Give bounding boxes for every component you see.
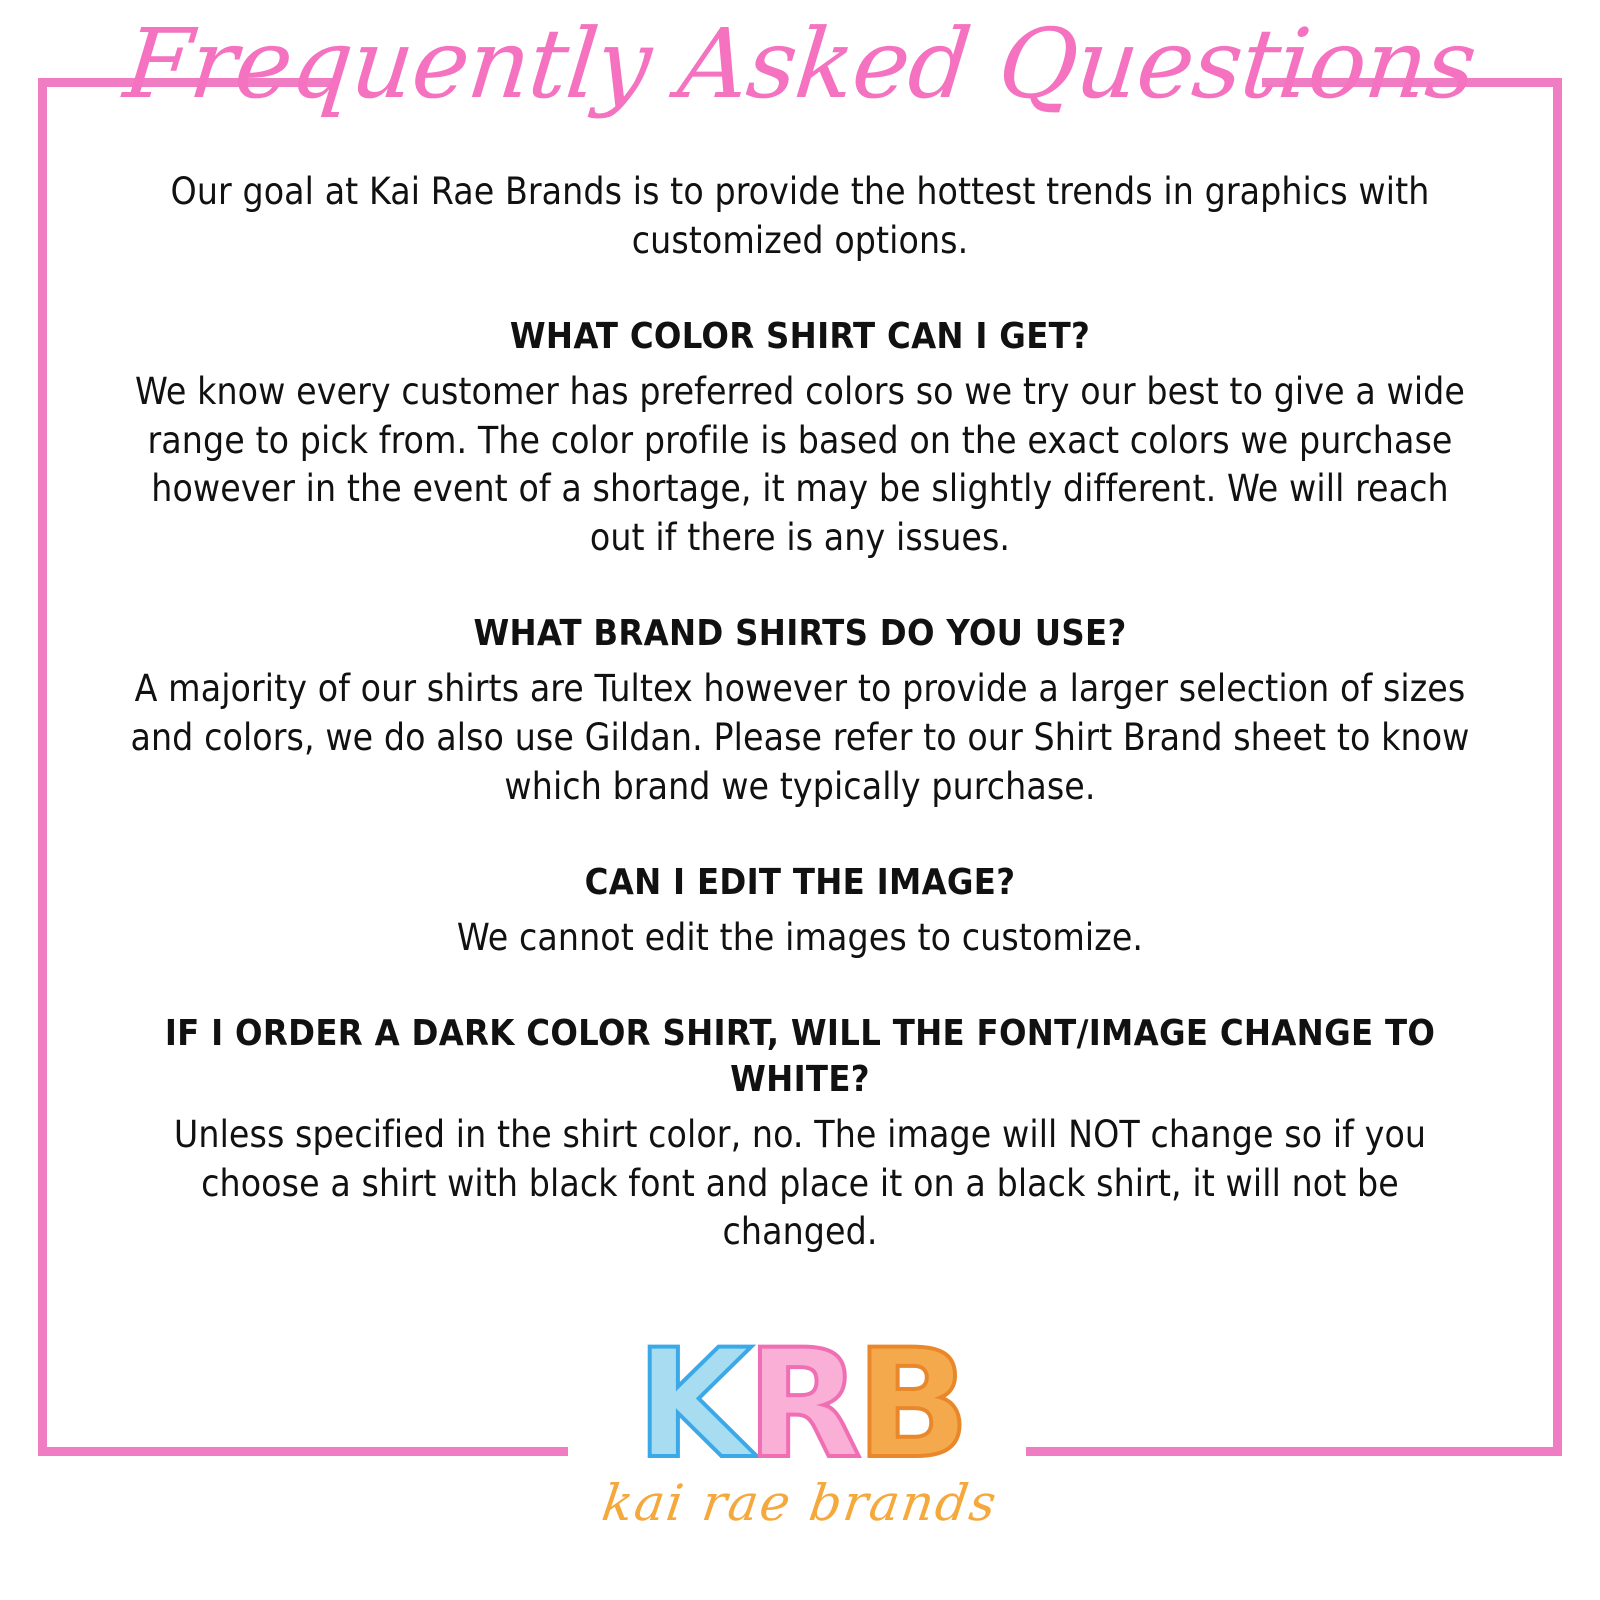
logo-letter-k: K xyxy=(636,1330,746,1480)
faq-question-1: WHAT COLOR SHIRT CAN I GET? xyxy=(130,314,1470,360)
logo-letter-r: R xyxy=(746,1330,856,1480)
frame-right-segment xyxy=(1553,78,1562,1456)
frame-left-segment xyxy=(38,78,47,1456)
logo-letter-b: B xyxy=(856,1330,964,1480)
faq-answer-2: A majority of our shirts are Tultex howe… xyxy=(130,665,1470,811)
faq-page: Frequently Asked Questions Our goal at K… xyxy=(0,0,1600,1600)
logo-lettermark: KRB xyxy=(0,1330,1600,1480)
faq-answer-4: Unless specified in the shirt color, no.… xyxy=(130,1111,1470,1257)
faq-answer-1: We know every customer has preferred col… xyxy=(130,368,1470,563)
intro-paragraph: Our goal at Kai Rae Brands is to provide… xyxy=(145,168,1455,266)
page-title: Frequently Asked Questions xyxy=(0,14,1600,115)
logo-tagline: kai rae brands xyxy=(0,1474,1600,1532)
faq-item-3: CAN I EDIT THE IMAGE? We cannot edit the… xyxy=(110,860,1490,963)
faq-item-2: WHAT BRAND SHIRTS DO YOU USE? A majority… xyxy=(110,611,1490,812)
brand-logo: KRB kai rae brands xyxy=(0,1330,1600,1532)
faq-item-4: IF I ORDER A DARK COLOR SHIRT, WILL THE … xyxy=(110,1011,1490,1258)
faq-answer-3: We cannot edit the images to customize. xyxy=(130,914,1470,963)
faq-question-4: IF I ORDER A DARK COLOR SHIRT, WILL THE … xyxy=(130,1011,1470,1103)
faq-item-1: WHAT COLOR SHIRT CAN I GET? We know ever… xyxy=(110,314,1490,563)
faq-content: Our goal at Kai Rae Brands is to provide… xyxy=(110,168,1490,1257)
faq-question-2: WHAT BRAND SHIRTS DO YOU USE? xyxy=(130,611,1470,657)
faq-question-3: CAN I EDIT THE IMAGE? xyxy=(130,860,1470,906)
